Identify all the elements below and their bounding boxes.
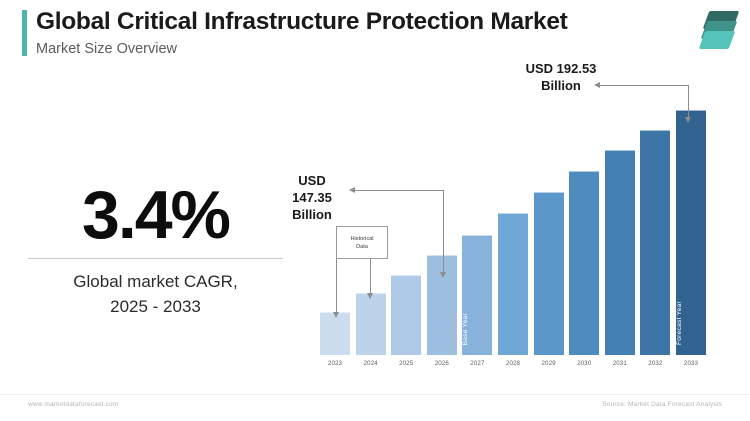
bar-chart: 2023202420252026Base Year202720282029203… [300,60,730,390]
annotation-left-line1: USD [276,172,348,189]
x-axis-label-2029: 2029 [534,360,564,367]
arrowhead-2033-label [594,82,600,88]
bar-rect-2024 [356,293,386,355]
arrowhead-2024 [367,293,373,299]
x-axis-label-2027: 2027 [462,360,492,367]
stacked-diamonds-logo [700,9,740,51]
historical-data-line1: Historical [350,235,373,243]
historical-data-line2: Data [350,243,373,251]
bar-rect-2029 [534,192,564,355]
cagr-label-line1: Global market CAGR, [18,269,293,294]
bar-rect-2033: Forecast Year [676,110,706,355]
footer-divider [0,394,750,395]
x-axis-label-2026: 2026 [427,360,457,367]
annotation-market-size-2033: USD 192.53 Billion [496,60,626,94]
cagr-divider [28,258,283,259]
bar-rect-2027: Base Year [462,235,492,355]
bar-2027: Base Year [462,60,492,355]
bar-2025 [391,60,421,355]
leader-line-2025-vertical [443,190,444,272]
bar-2033: Forecast Year [676,60,706,355]
arrowhead-2025-label [349,187,355,193]
arrowhead-2033 [685,117,691,123]
annotation-left-line3: Billion [276,206,348,223]
bar-rect-2031 [605,150,635,355]
page-subtitle: Market Size Overview [36,41,177,57]
logo-diamond-bottom [699,31,736,49]
leader-hist-to-2023-down [336,259,337,312]
cagr-value: 3.4% [18,176,293,254]
bar-2024 [356,60,386,355]
leader-line-2033-vertical [688,85,689,117]
forecast-year-tag: Forecast Year [676,301,706,345]
bar-rect-2032 [640,130,670,355]
historical-data-box: Historical Data [336,226,388,259]
bar-rect-2028 [498,213,528,355]
bar-2028 [498,60,528,355]
x-axis-label-2028: 2028 [498,360,528,367]
x-axis-label-2031: 2031 [605,360,635,367]
bar-rect-2026 [427,255,457,355]
x-axis-label-2032: 2032 [640,360,670,367]
bar-2026 [427,60,457,355]
cagr-label-line2: 2025 - 2033 [18,294,293,319]
bar-rect-2023 [320,312,350,355]
annotation-right-line1: USD 192.53 [496,60,626,77]
arrowhead-2023 [333,312,339,318]
leader-line-2033-horizontal [600,85,688,86]
x-axis-label-2024: 2024 [356,360,386,367]
annotation-left-line2: 147.35 [276,189,348,206]
bar-rect-2025 [391,275,421,355]
bar-2032 [640,60,670,355]
arrowhead-2025 [440,272,446,278]
bar-2030 [569,60,599,355]
header: Global Critical Infrastructure Protectio… [0,0,750,62]
chart-plot-area: 2023202420252026Base Year202720282029203… [320,60,712,355]
cagr-label: Global market CAGR, 2025 - 2033 [18,269,293,319]
x-axis-label-2023: 2023 [320,360,350,367]
bar-2029 [534,60,564,355]
annotation-market-size-2025: USD 147.35 Billion [276,172,348,223]
bar-2031 [605,60,635,355]
title-accent-bar [22,10,27,56]
leader-hist-to-2024-down [370,259,371,293]
leader-line-2025-horizontal [355,190,443,191]
footer-source: Source: Market Data Forecast Analysis [602,401,722,408]
bar-rect-2030 [569,171,599,355]
x-axis-label-2033: 2033 [676,360,706,367]
cagr-panel: 3.4% Global market CAGR, 2025 - 2033 [18,176,293,319]
x-axis-label-2025: 2025 [391,360,421,367]
base-year-tag: Base Year [462,313,492,345]
x-axis-label-2030: 2030 [569,360,599,367]
footer-website[interactable]: www.marketdataforecast.com [28,401,118,408]
page-title: Global Critical Infrastructure Protectio… [36,8,568,36]
